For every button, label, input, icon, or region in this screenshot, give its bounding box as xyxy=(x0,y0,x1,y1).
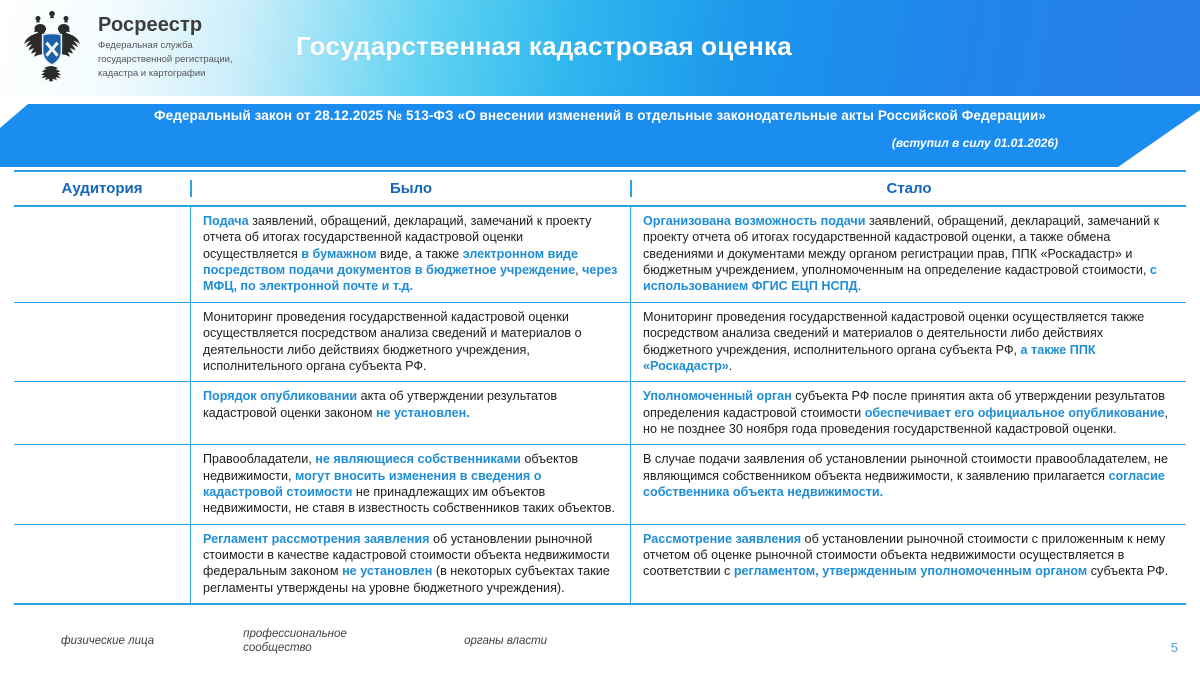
now-r4-seg-3: субъекта РФ. xyxy=(1087,564,1168,578)
cell-was: Регламент рассмотрения заявления об уста… xyxy=(190,525,630,603)
cell-was: Правообладатели, не являющиеся собственн… xyxy=(190,445,630,523)
org-subtitle: Федеральная служба государственной регис… xyxy=(98,39,233,80)
now-r2-seg-2: обеспечивает его официальное опубликован… xyxy=(865,406,1165,420)
people-group-icon xyxy=(18,625,52,657)
was-r3-seg-0: Правообладатели, xyxy=(203,452,315,466)
was-r4-seg-2: не установлен xyxy=(342,564,432,578)
table-row: Правообладатели, не являющиеся собственн… xyxy=(14,445,1186,524)
government-building-icon xyxy=(45,462,97,508)
government-building-icon xyxy=(417,625,455,657)
column-header-was: Было xyxy=(190,180,630,197)
now-r0-seg-0: Организована возможность подачи xyxy=(643,214,866,228)
org-subtitle-line3: кадастра и картографии xyxy=(98,67,233,81)
table-body: Подача заявлений, обращений, деклараций,… xyxy=(14,207,1186,603)
org-name: Росреестр xyxy=(98,15,233,36)
was-r0-seg-0: Подача xyxy=(203,214,249,228)
cell-was: Порядок опубликовании акта об утверждени… xyxy=(190,382,630,444)
table-row: Порядок опубликовании акта об утверждени… xyxy=(14,382,1186,445)
now-r4-seg-2: регламентом, утвержденным уполномоченным… xyxy=(734,564,1087,578)
briefcase-icon xyxy=(198,625,234,657)
cell-now: Мониторинг проведения государственной ка… xyxy=(630,303,1186,381)
government-building-icon xyxy=(45,319,97,365)
government-building-icon xyxy=(45,541,97,587)
now-r1-seg-2: . xyxy=(729,359,733,373)
cell-now: Организована возможность подачи заявлени… xyxy=(630,207,1186,302)
legend-item-1: профессиональное сообщество xyxy=(198,625,373,657)
now-r2-seg-0: Уполномоченный орган xyxy=(643,389,792,403)
logo-text-block: Росреестр Федеральная служба государстве… xyxy=(98,15,233,80)
org-subtitle-line2: государственной регистрации, xyxy=(98,53,233,67)
slide-header: Росреестр Федеральная служба государстве… xyxy=(0,0,1200,96)
law-effective-note: (вступил в силу 01.01.2026) xyxy=(892,136,1058,150)
cell-audience-icons xyxy=(14,303,190,381)
cell-was: Подача заявлений, обращений, деклараций,… xyxy=(190,207,630,302)
government-building-icon xyxy=(45,231,97,277)
cell-now: В случае подачи заявления об установлени… xyxy=(630,445,1186,523)
table-row: Подача заявлений, обращений, деклараций,… xyxy=(14,207,1186,303)
briefcase-icon xyxy=(109,232,159,276)
legend-label-2: органы власти xyxy=(464,634,547,648)
cell-now: Рассмотрение заявления об установлении р… xyxy=(630,525,1186,603)
was-r2-seg-2: не установлен. xyxy=(376,406,470,420)
column-header-now: Стало xyxy=(630,180,1186,197)
cell-audience-icons xyxy=(14,445,190,523)
cell-audience-icons xyxy=(14,525,190,603)
org-subtitle-line1: Федеральная служба xyxy=(98,39,233,53)
rosreestr-logo: Росреестр Федеральная служба государстве… xyxy=(16,8,233,88)
column-header-audience: Аудитория xyxy=(14,180,190,197)
russian-double-headed-eagle-emblem-icon xyxy=(16,8,88,88)
briefcase-icon xyxy=(109,463,159,507)
briefcase-icon xyxy=(109,542,159,586)
comparison-table: Аудитория Было Стало Подача заявлений, о… xyxy=(14,170,1186,605)
briefcase-icon xyxy=(109,320,159,364)
cell-audience-icons xyxy=(14,382,190,444)
was-r1-seg-0: Мониторинг проведения государственной ка… xyxy=(203,310,582,373)
table-row: Мониторинг проведения государственной ка… xyxy=(14,303,1186,382)
legend-item-0: физические лица xyxy=(18,625,154,657)
cell-now: Уполномоченный орган субъекта РФ после п… xyxy=(630,382,1186,444)
was-r0-seg-2: в бумажном xyxy=(301,247,376,261)
was-r3-seg-1: не являющиеся собственниками xyxy=(315,452,521,466)
now-r0-seg-3: . xyxy=(858,279,862,293)
page-number: 5 xyxy=(1171,640,1178,655)
was-r4-seg-0: Регламент рассмотрения заявления xyxy=(203,532,429,546)
was-r2-seg-0: Порядок опубликовании xyxy=(203,389,357,403)
law-banner-zone: Федеральный закон от 28.12.2025 № 513-ФЗ… xyxy=(0,96,1200,170)
law-title: Федеральный закон от 28.12.2025 № 513-ФЗ… xyxy=(0,108,1200,123)
legend: физические лицапрофессиональное сообщест… xyxy=(18,625,547,657)
page-title: Государственная кадастровая оценка xyxy=(296,31,792,62)
now-r4-seg-0: Рассмотрение заявления xyxy=(643,532,801,546)
table-row: Регламент рассмотрения заявления об уста… xyxy=(14,525,1186,603)
slide-root: Росреестр Федеральная служба государстве… xyxy=(0,0,1200,675)
cell-audience-icons xyxy=(14,207,190,302)
legend-label-0: физические лица xyxy=(61,634,154,648)
cell-was: Мониторинг проведения государственной ка… xyxy=(190,303,630,381)
now-r3-seg-0: В случае подачи заявления об установлени… xyxy=(643,452,1168,482)
legend-label-1: профессиональное сообщество xyxy=(243,627,373,656)
government-building-icon xyxy=(45,390,97,436)
legend-item-2: органы власти xyxy=(417,625,547,657)
table-header-row: Аудитория Было Стало xyxy=(14,172,1186,207)
briefcase-icon xyxy=(109,391,159,435)
was-r0-seg-3: виде, а также xyxy=(377,247,463,261)
